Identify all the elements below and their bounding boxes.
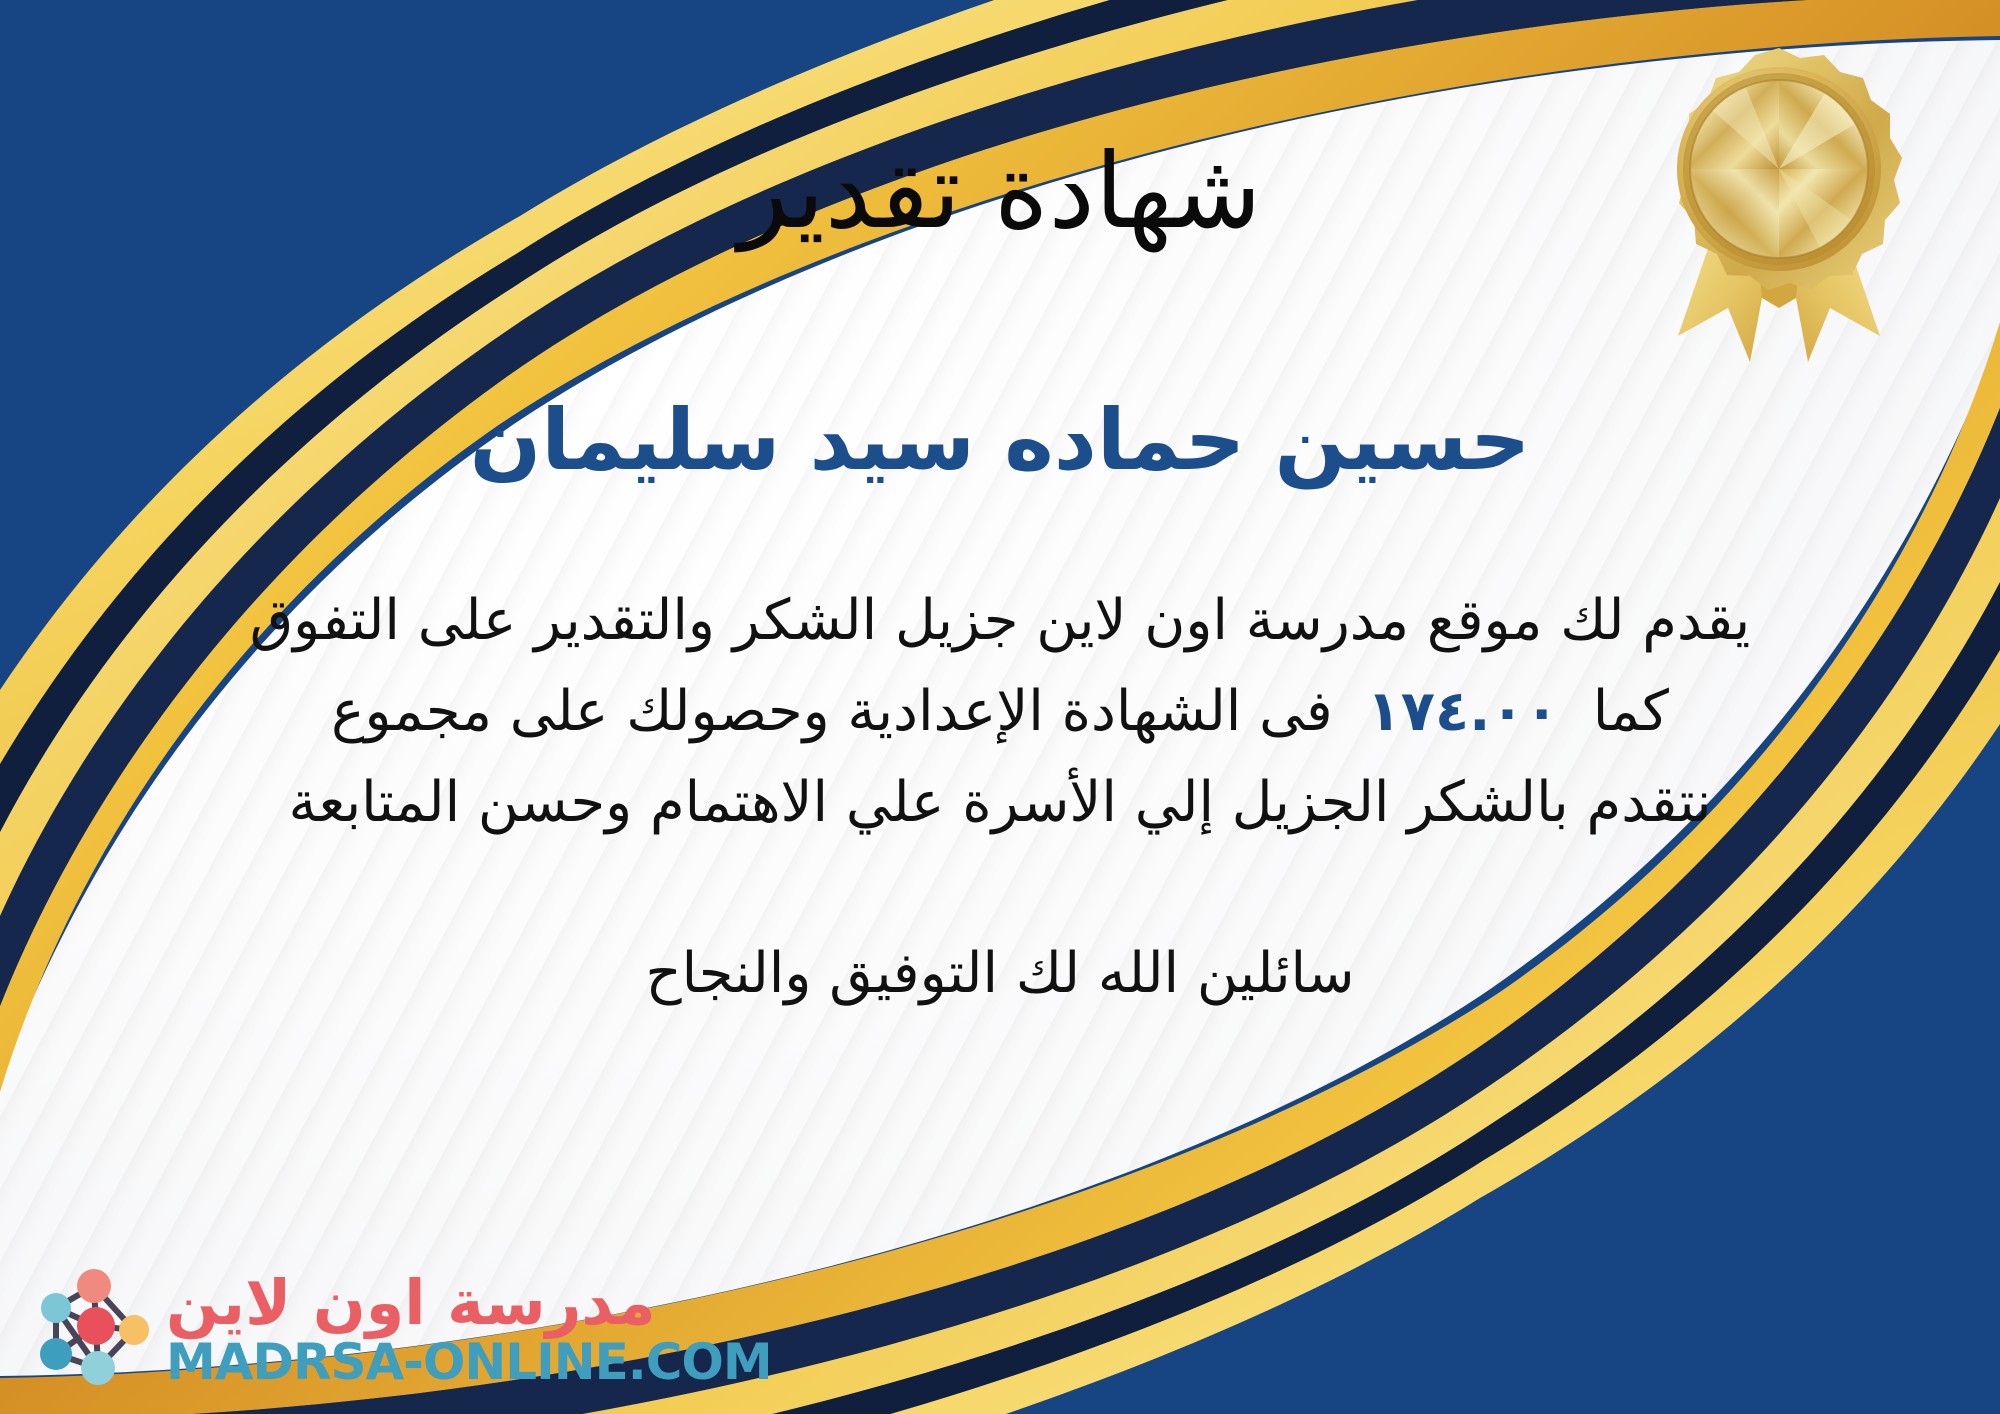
certificate-body: يقدم لك موقع مدرسة اون لاين جزيل الشكر و… xyxy=(60,576,1940,848)
closing-line: سائلين الله لك التوفيق والنجاح xyxy=(645,941,1354,1006)
certificate-canvas: شهادة تقدير حسين حماده سيد سليمان يقدم ل… xyxy=(0,0,2000,1414)
award-medal-ribbon-icon xyxy=(1654,40,1904,370)
score-value: ١٧٤.٠٠ xyxy=(1333,679,1593,744)
network-nodes-icon xyxy=(28,1264,160,1396)
recipient-name: حسين حماده سيد سليمان xyxy=(470,390,1531,491)
brand-text: مدرسة اون لاين MADRSA-ONLINE.COM xyxy=(166,1270,772,1390)
body-line-2-after-score: كما xyxy=(1593,679,1669,744)
brand-website-url: MADRSA-ONLINE.COM xyxy=(166,1335,772,1390)
brand-name-arabic: مدرسة اون لاين xyxy=(166,1270,656,1335)
body-line-1: يقدم لك موقع مدرسة اون لاين جزيل الشكر و… xyxy=(60,576,1940,667)
body-line-3: نتقدم بالشكر الجزيل إلي الأسرة علي الاهت… xyxy=(60,758,1940,849)
body-line-2-before-score: فى الشهادة الإعدادية وحصولك على مجموع xyxy=(331,679,1333,744)
body-line-2: كما١٧٤.٠٠فى الشهادة الإعدادية وحصولك على… xyxy=(60,667,1940,758)
page-title: شهادة تقدير xyxy=(738,132,1261,252)
brand-logo[interactable]: مدرسة اون لاين MADRSA-ONLINE.COM xyxy=(28,1264,772,1396)
